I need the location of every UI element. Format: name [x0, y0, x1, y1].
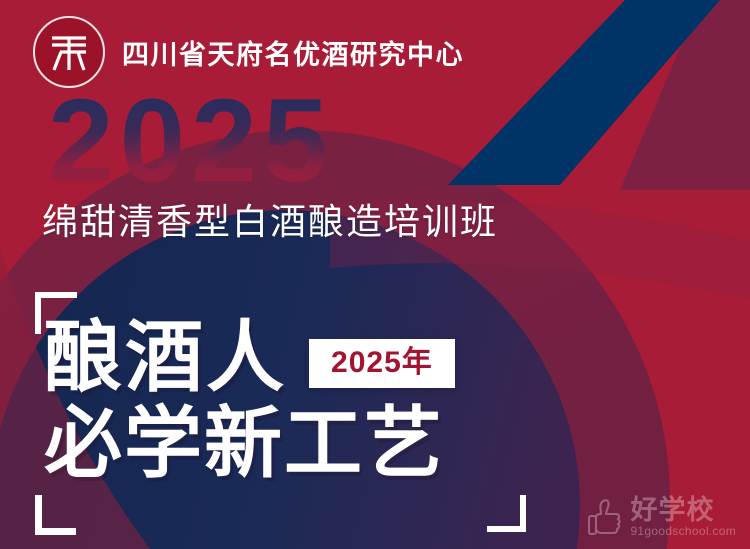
promotional-banner: 2025 四川省天府名优酒研究中心 绵甜清香型白酒酿造培训班 酿酒人 [0, 0, 750, 549]
course-subtitle: 绵甜清香型白酒酿造培训班 [42, 193, 498, 245]
circular-seal-logo [33, 16, 105, 88]
year-badge: 2025年 [309, 339, 455, 388]
header: 四川省天府名优酒研究中心 [33, 16, 464, 88]
headline-block: 酿酒人 2025年 必学新工艺 [44, 318, 514, 483]
headline-row-1: 酿酒人 2025年 [44, 318, 514, 398]
organization-name: 四川省天府名优酒研究中心 [122, 33, 464, 72]
headline-line-2: 必学新工艺 [44, 404, 514, 484]
headline-line-1: 酿酒人 [44, 318, 287, 398]
